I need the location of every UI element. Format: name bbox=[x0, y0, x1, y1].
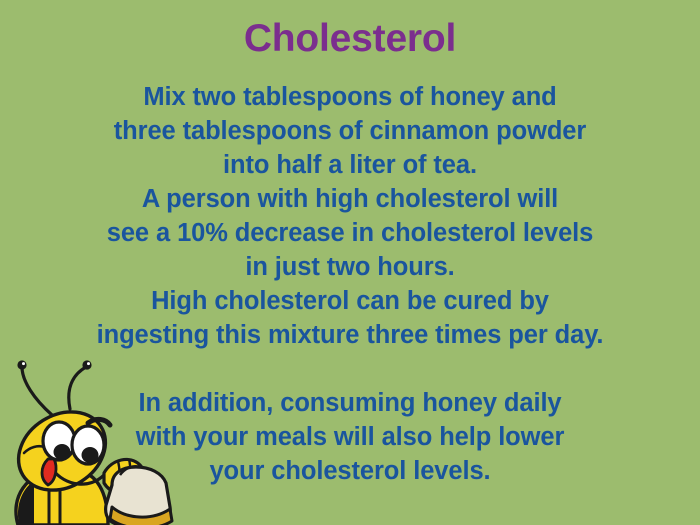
body-line: see a 10% decrease in cholesterol levels bbox=[0, 216, 700, 250]
body-line: into half a liter of tea. bbox=[0, 148, 700, 182]
body-line: A person with high cholesterol will bbox=[0, 182, 700, 216]
body-line: ingesting this mixture three times per d… bbox=[0, 318, 700, 352]
body-text-block: Mix two tablespoons of honey and three t… bbox=[0, 80, 700, 488]
body-line: with your meals will also help lower bbox=[0, 420, 700, 454]
body-line: in just two hours. bbox=[0, 250, 700, 284]
poster-canvas: Cholesterol Mix two tablespoons of honey… bbox=[0, 0, 700, 525]
body-line: High cholesterol can be cured by bbox=[0, 284, 700, 318]
body-line: your cholesterol levels. bbox=[0, 454, 700, 488]
body-line: three tablespoons of cinnamon powder bbox=[0, 114, 700, 148]
paragraph-spacer bbox=[0, 352, 700, 386]
honey-drip-icon bbox=[110, 507, 172, 525]
body-line: In addition, consuming honey daily bbox=[0, 386, 700, 420]
body-line: Mix two tablespoons of honey and bbox=[0, 80, 700, 114]
page-title: Cholesterol bbox=[0, 16, 700, 62]
